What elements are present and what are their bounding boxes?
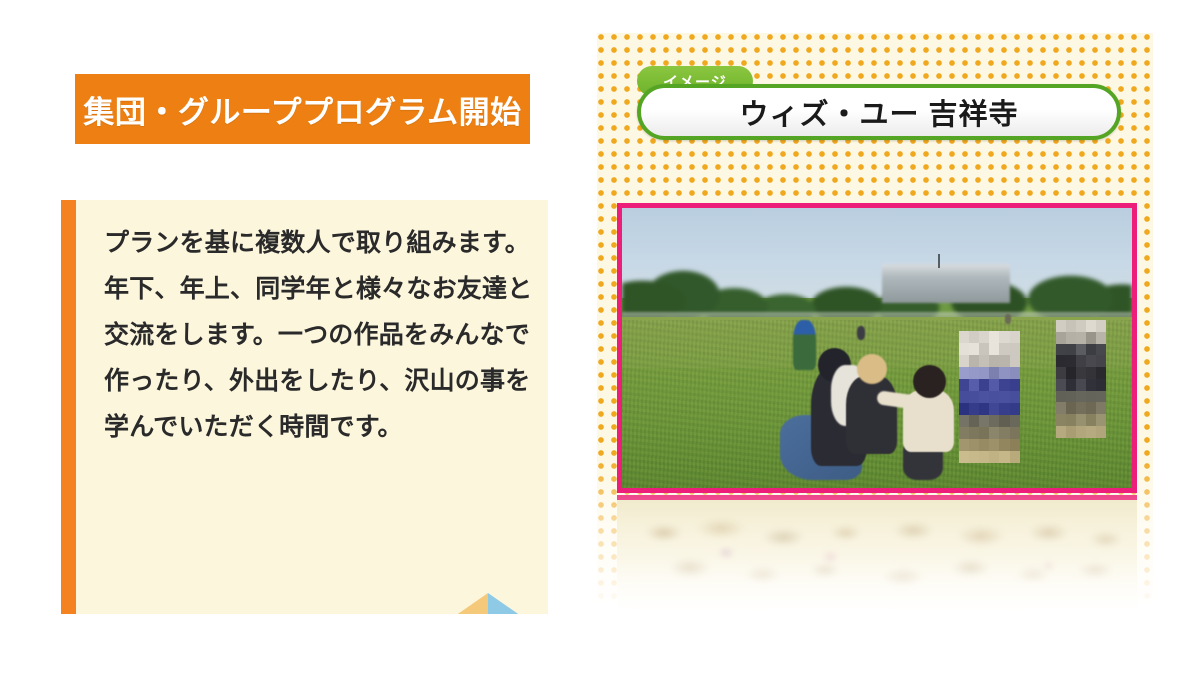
right-column: イメージ ウィズ・ユー 吉祥寺: [0, 0, 1200, 673]
mosaic-pixelation-a: [959, 331, 1020, 463]
photo-building-antenna: [938, 254, 940, 268]
photo-building: [882, 264, 1010, 303]
strip-white-fade: [617, 495, 1137, 610]
facility-name-label: ウィズ・ユー 吉祥寺: [739, 91, 1018, 133]
photo-person-child-head: [913, 365, 946, 399]
photo-person-mosaic-blue: [959, 331, 1020, 463]
photo-person-mosaic-right: [1056, 320, 1107, 438]
photo-person-green-child: [793, 320, 816, 370]
photo-person-distant-2: [1005, 314, 1011, 324]
blurred-photo-strip: [617, 495, 1137, 610]
facility-header-group: イメージ ウィズ・ユー 吉祥寺: [637, 66, 1127, 144]
facility-photo-frame: [617, 203, 1137, 493]
facility-photo: [622, 208, 1132, 488]
facility-name-pill: ウィズ・ユー 吉祥寺: [637, 84, 1121, 140]
photo-person-adult2-body: [846, 376, 897, 454]
mosaic-pixelation-b: [1056, 320, 1107, 438]
photo-person-child-body: [903, 390, 954, 452]
photo-person-distant: [857, 326, 865, 340]
